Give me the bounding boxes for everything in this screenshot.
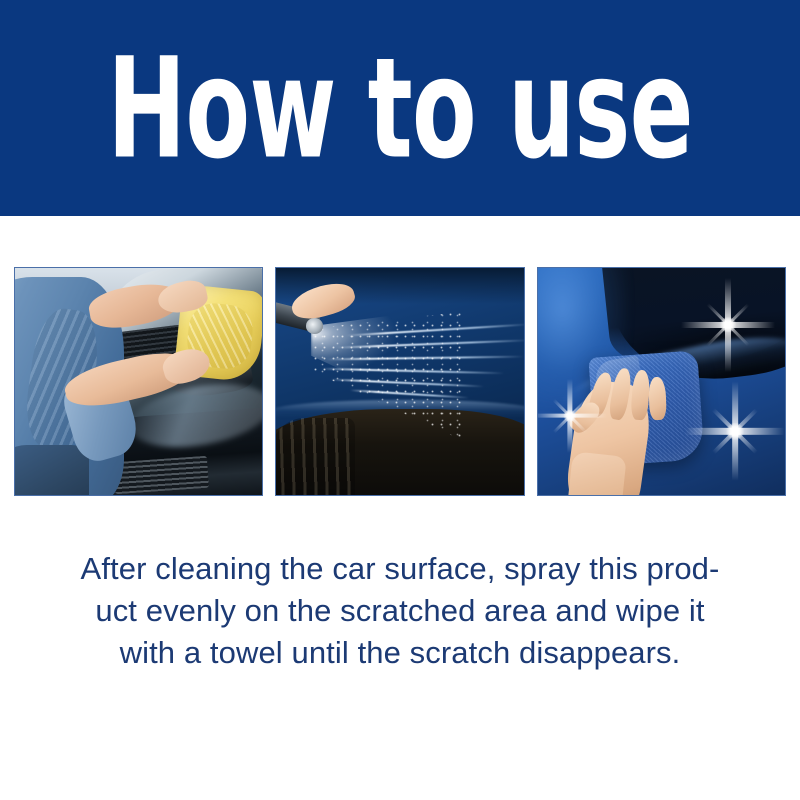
caption-line-1: After cleaning the car surface, spray th… [0,548,800,590]
car-grille-lower [113,455,209,493]
spray-nozzle-tip [306,318,323,334]
step-photo-1-clean-surface [14,267,263,496]
caption-line-2: uct evenly on the scratched area and wip… [0,590,800,632]
step-photo-2-spray-product [275,267,524,496]
photo-2-scene [276,268,523,495]
page-title: How to use [80,0,720,216]
wrist [567,451,627,495]
step-photo-gallery [14,267,786,496]
caption-line-3: with a towel until the scratch disappear… [0,632,800,674]
photo-3-scene [538,268,785,495]
tire-tread [276,418,355,495]
photo-1-scene [15,268,262,495]
jeans [15,445,89,495]
instruction-caption: After cleaning the car surface, spray th… [0,548,800,674]
step-photo-3-wipe-with-towel [537,267,786,496]
header-banner: How to use [0,0,800,216]
